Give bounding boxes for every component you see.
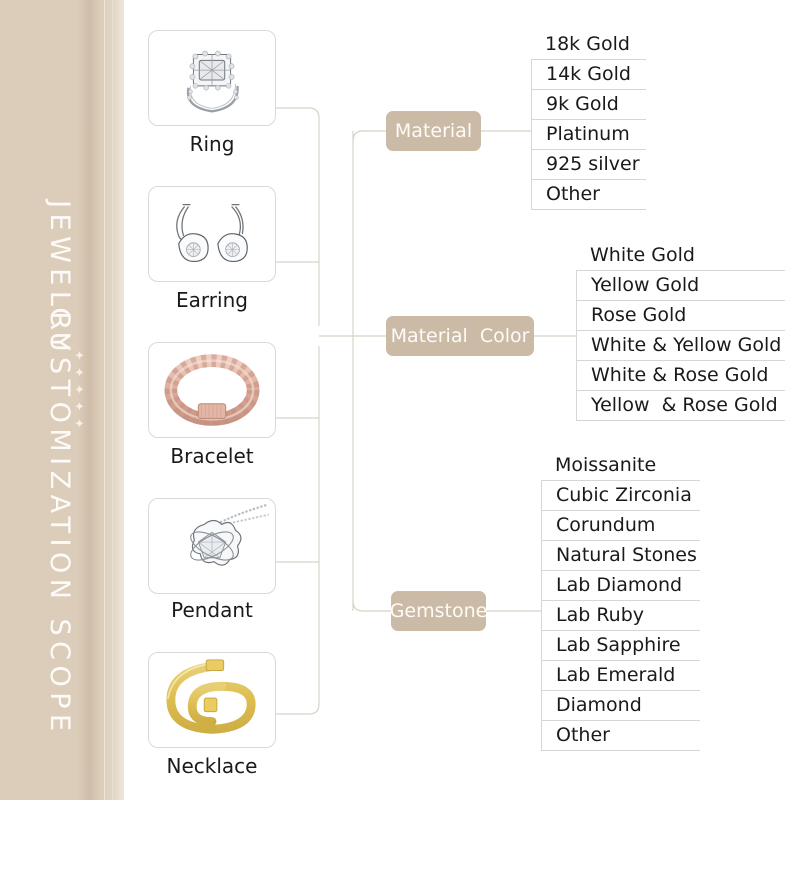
option-list-material-color: White Gold Yellow Gold Rose Gold White &… bbox=[576, 241, 785, 421]
category-pill-gemstone[interactable]: Gemstone bbox=[391, 591, 486, 631]
option-item[interactable]: Lab Emerald bbox=[541, 660, 700, 690]
option-item[interactable]: Natural Stones bbox=[541, 540, 700, 570]
product-card-bracelet[interactable] bbox=[148, 342, 276, 438]
option-item[interactable]: Rose Gold bbox=[576, 300, 785, 330]
category-pill-material[interactable]: Material bbox=[386, 111, 481, 151]
star-icon: ✦ bbox=[74, 403, 85, 413]
star-icon: ✦ bbox=[74, 386, 85, 396]
option-item[interactable]: Moissanite bbox=[541, 451, 700, 480]
option-item[interactable]: 18k Gold bbox=[531, 30, 646, 59]
infographic-root: JEWELRY CUSTOMIZATION SCOPE ✦ ✦ ✦ ✦ ✦ bbox=[0, 0, 800, 800]
product-label-ring: Ring bbox=[148, 132, 276, 156]
left-banner: JEWELRY CUSTOMIZATION SCOPE ✦ ✦ ✦ ✦ ✦ bbox=[0, 0, 124, 800]
product-label-pendant: Pendant bbox=[148, 598, 276, 622]
option-item[interactable]: 14k Gold bbox=[531, 59, 646, 89]
star-icon: ✦ bbox=[74, 352, 85, 362]
option-item[interactable]: Diamond bbox=[541, 690, 700, 720]
option-item[interactable]: Other bbox=[541, 720, 700, 751]
option-item[interactable]: Lab Diamond bbox=[541, 570, 700, 600]
category-pill-material-color[interactable]: Material Color bbox=[386, 316, 534, 356]
connector-to-material bbox=[353, 131, 386, 141]
option-item[interactable]: Yellow & Rose Gold bbox=[576, 390, 785, 421]
product-card-pendant[interactable] bbox=[148, 498, 276, 594]
option-item[interactable]: Lab Sapphire bbox=[541, 630, 700, 660]
earring-photo bbox=[149, 187, 275, 281]
option-item[interactable]: 9k Gold bbox=[531, 89, 646, 119]
option-list-gemstone: Moissanite Cubic Zirconia Corundum Natur… bbox=[541, 451, 700, 751]
connector-to-gemstone bbox=[353, 601, 391, 611]
product-card-ring[interactable] bbox=[148, 30, 276, 126]
star-icon: ✦ bbox=[74, 420, 85, 430]
star-decoration: ✦ ✦ ✦ ✦ ✦ bbox=[74, 352, 85, 430]
product-label-necklace: Necklace bbox=[148, 754, 276, 778]
option-list-material: 18k Gold 14k Gold 9k Gold Platinum 925 s… bbox=[531, 30, 646, 210]
option-item[interactable]: White & Rose Gold bbox=[576, 360, 785, 390]
product-card-necklace[interactable] bbox=[148, 652, 276, 748]
banner-stripe bbox=[104, 0, 105, 800]
banner-stripe bbox=[112, 0, 113, 800]
connector-ring bbox=[276, 108, 319, 326]
connector-necklace bbox=[276, 346, 319, 714]
ring-photo bbox=[149, 31, 275, 125]
option-item[interactable]: Yellow Gold bbox=[576, 270, 785, 300]
option-item[interactable]: White & Yellow Gold bbox=[576, 330, 785, 360]
option-item[interactable]: Corundum bbox=[541, 510, 700, 540]
option-item[interactable]: Platinum bbox=[531, 119, 646, 149]
product-label-bracelet: Bracelet bbox=[148, 444, 276, 468]
option-item[interactable]: Other bbox=[531, 179, 646, 210]
option-item[interactable]: White Gold bbox=[576, 241, 785, 270]
banner-title-line2: CUSTOMIZATION SCOPE bbox=[30, 162, 90, 882]
product-label-earring: Earring bbox=[148, 288, 276, 312]
star-icon: ✦ bbox=[74, 369, 85, 379]
necklace-photo bbox=[149, 653, 275, 747]
option-item[interactable]: 925 silver bbox=[531, 149, 646, 179]
option-item[interactable]: Cubic Zirconia bbox=[541, 480, 700, 510]
option-item[interactable]: Lab Ruby bbox=[541, 600, 700, 630]
product-card-earring[interactable] bbox=[148, 186, 276, 282]
bracelet-photo bbox=[149, 343, 275, 437]
pendant-photo bbox=[149, 499, 275, 593]
